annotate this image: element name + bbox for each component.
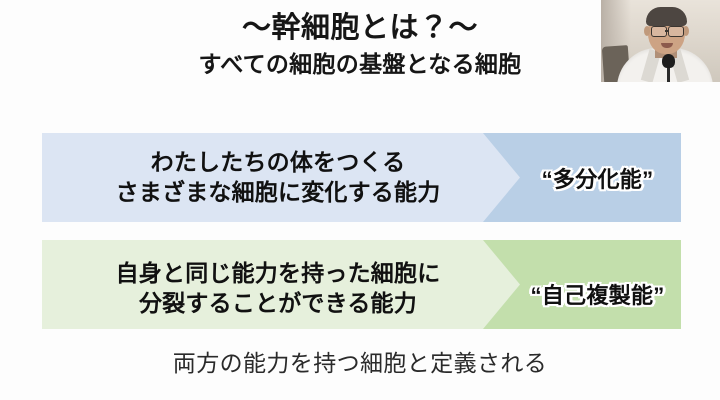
speaker-hair (646, 7, 687, 26)
banner-body-line-1: わたしたちの体をつくる (151, 148, 406, 177)
banner-body-line-1: 自身と同じ能力を持った細胞に (116, 259, 441, 288)
banner-self-renewal: 自身と同じ能力を持った細胞に 分裂することができる能力 “自己複製能” (42, 240, 681, 329)
glasses-bridge (665, 30, 669, 32)
banner-pluripotency: わたしたちの体をつくる さまざまな細胞に変化する能力 “多分化能” (42, 133, 681, 222)
slide-canvas: 〜幹細胞とは？〜 すべての細胞の基盤となる細胞 わたしたちの体をつくる さまざま… (0, 0, 720, 400)
banner-body-line-2: 分裂することができる能力 (139, 289, 417, 318)
microphone-icon (662, 54, 675, 68)
banner-keyword-label: “多分化能” (514, 133, 681, 222)
banner-body-text: 自身と同じ能力を持った細胞に 分裂することができる能力 (42, 244, 514, 333)
banner-keyword-label: “自己複製能” (514, 249, 681, 338)
conclusion-text: 両方の能力を持つ細胞と定義される (0, 344, 720, 378)
speaker-video-overlay[interactable] (601, 0, 720, 82)
glasses-lens-right (668, 26, 684, 37)
banner-body-line-2: さまざまな細胞に変化する能力 (116, 178, 441, 207)
glasses-lens-left (651, 26, 667, 37)
speaker-ear-left (644, 26, 650, 36)
banner-body-text: わたしたちの体をつくる さまざまな細胞に変化する能力 (42, 133, 514, 222)
